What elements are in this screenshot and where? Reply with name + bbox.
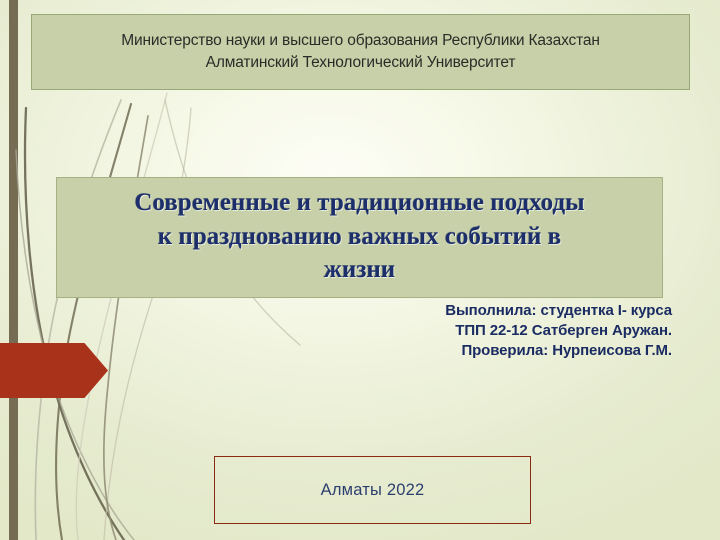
presentation-title-box: Современные и традиционные подходы к пра…: [56, 177, 663, 298]
presentation-title-text: Современные и традиционные подходы к пра…: [124, 178, 594, 287]
institution-header-box: Министерство науки и высшего образования…: [31, 14, 690, 90]
author-credits-text: Выполнила: студентка I- курса ТПП 22-12 …: [330, 301, 672, 361]
olive-vertical-stripe: [9, 0, 18, 540]
city-year-label: Алматы 2022: [321, 481, 425, 500]
institution-header-text: Министерство науки и высшего образования…: [111, 30, 610, 74]
presentation-title-slide: Министерство науки и высшего образования…: [0, 0, 720, 540]
red-right-arrow-banner: [0, 343, 108, 398]
city-year-box: Алматы 2022: [214, 456, 531, 524]
